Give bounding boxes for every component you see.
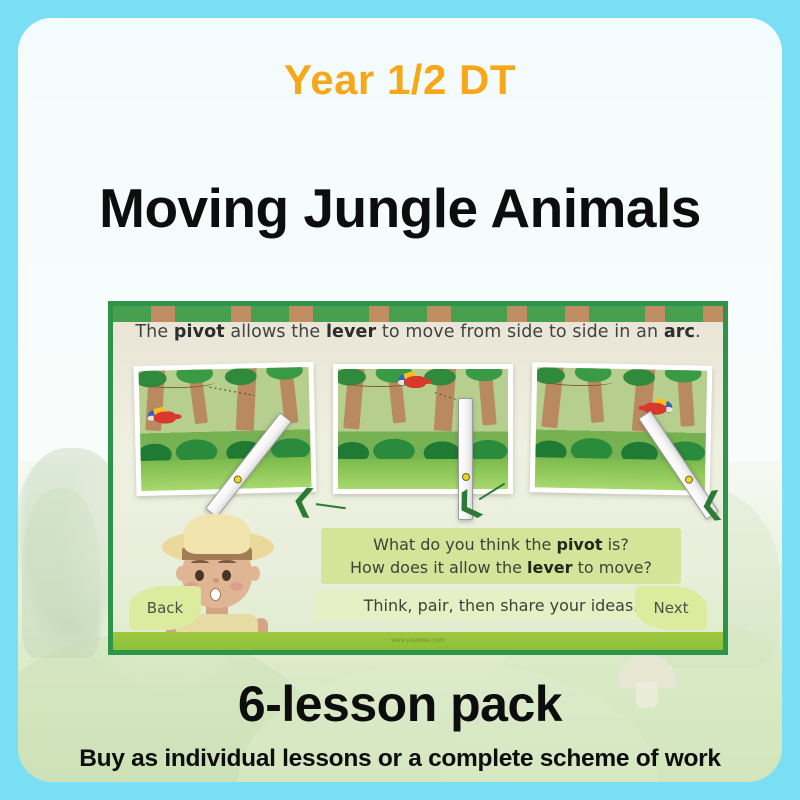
parrot-icon [396, 373, 430, 393]
arrow-left-icon: ❮— [698, 485, 728, 521]
parrot-icon [145, 408, 179, 429]
think-pair-share-box: Think, pair, then share your ideas. [313, 590, 689, 620]
parrot-beak [666, 407, 672, 412]
parrot-beak [148, 416, 154, 421]
explorer-eye [222, 570, 231, 581]
think-pair-share-text: Think, pair, then share your ideas. [364, 596, 639, 615]
safari-hat-crown [184, 514, 250, 554]
explorer-cheek [230, 582, 243, 591]
page-title: Moving Jungle Animals [18, 176, 782, 240]
question-line-2: How does it allow the lever to move? [350, 556, 652, 579]
canopy-strip-decoration [113, 306, 723, 322]
slide-heading-part4: . [695, 322, 701, 342]
question-line2-part1: How does it allow the [350, 558, 527, 577]
slide-heading: The pivot allows the lever to move from … [113, 322, 723, 342]
arrow-left-icon: ❮— [289, 484, 348, 521]
back-button-label: Back [147, 599, 183, 617]
parrot-tail [422, 379, 432, 384]
parrot-tail [638, 405, 648, 410]
jungle-scene-2 [338, 369, 508, 489]
slide-heading-bold-lever: lever [326, 322, 376, 342]
slide-heading-part3: to move from side to side in an [376, 322, 664, 342]
pivot-point-icon [683, 475, 694, 486]
back-button[interactable]: Back [129, 586, 201, 630]
question-line2-bold: lever [527, 558, 573, 577]
eyebrow-label: Year 1/2 DT [18, 56, 782, 104]
explorer-nose [213, 578, 219, 583]
slide-heading-part1: The [135, 322, 174, 342]
explorer-eyebrow [191, 560, 209, 566]
slide-heading-part2: allows the [225, 322, 326, 342]
question-box: What do you think the pivot is? How does… [321, 528, 681, 584]
explorer-eyebrow [218, 560, 236, 566]
question-line1-part1: What do you think the [373, 535, 556, 554]
slide-footer-bar: www.planbee.com [113, 632, 723, 650]
pack-subtitle: Buy as individual lessons or a complete … [18, 745, 782, 773]
promo-card: Year 1/2 DT Moving Jungle Animals The pi… [18, 18, 782, 782]
explorer-eye [195, 570, 204, 581]
question-line-1: What do you think the pivot is? [373, 533, 629, 556]
undergrowth-bushes [338, 425, 508, 459]
question-line1-bold: pivot [556, 535, 602, 554]
parrot-beak [398, 380, 404, 385]
panel-lever-left [133, 362, 316, 496]
next-button[interactable]: Next [635, 586, 707, 630]
slide-heading-bold-pivot: pivot [174, 322, 225, 342]
slide-preview[interactable]: The pivot allows the lever to move from … [108, 301, 728, 655]
explorer-mouth [210, 588, 221, 601]
pack-label: 6-lesson pack [18, 675, 782, 733]
question-line1-part2: is? [603, 535, 629, 554]
question-line2-part2: to move? [573, 558, 652, 577]
next-button-label: Next [654, 599, 689, 617]
pivot-point-icon [232, 474, 243, 485]
panel-group [135, 364, 711, 494]
watermark-text: www.planbee.com [391, 638, 444, 644]
slide-heading-bold-arc: arc [664, 322, 695, 342]
parrot-tail [172, 414, 182, 419]
pivot-point-icon [462, 473, 470, 481]
